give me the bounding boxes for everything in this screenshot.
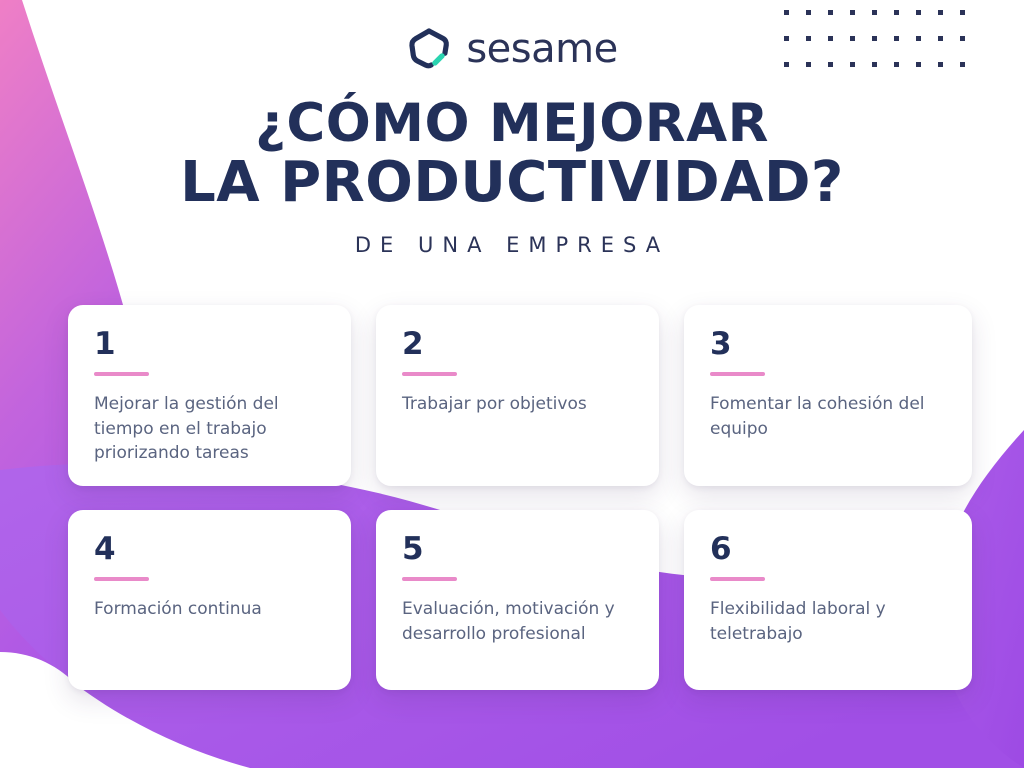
grid-dot — [960, 10, 965, 15]
card-text: Fomentar la cohesión del equipo — [710, 392, 946, 441]
card-number: 1 — [94, 329, 325, 360]
card-text: Trabajar por objetivos — [402, 392, 633, 417]
card-rule — [402, 577, 457, 581]
grid-dot — [894, 10, 899, 15]
grid-dot — [916, 10, 921, 15]
card-number: 5 — [402, 534, 633, 565]
card-rule — [402, 372, 457, 376]
grid-dot — [850, 10, 855, 15]
tip-card: 4 Formación continua — [68, 510, 351, 690]
brand-logo: sesame — [0, 26, 1024, 72]
card-rule — [710, 372, 765, 376]
title-line-2: LA PRODUCTIVIDAD? — [0, 153, 1024, 213]
page-title: ¿CÓMO MEJORAR LA PRODUCTIVIDAD? — [0, 96, 1024, 213]
card-number: 3 — [710, 329, 946, 360]
grid-dot — [872, 10, 877, 15]
card-number: 2 — [402, 329, 633, 360]
card-number: 6 — [710, 534, 946, 565]
card-rule — [94, 372, 149, 376]
card-text: Flexibilidad laboral y teletrabajo — [710, 597, 946, 646]
brand-name: sesame — [466, 29, 617, 69]
tip-card: 1 Mejorar la gestión del tiempo en el tr… — [68, 305, 351, 486]
grid-dot — [806, 10, 811, 15]
tip-card: 6 Flexibilidad laboral y teletrabajo — [684, 510, 972, 690]
card-rule — [94, 577, 149, 581]
card-rule — [710, 577, 765, 581]
card-text: Mejorar la gestión del tiempo en el trab… — [94, 392, 325, 466]
tips-card-grid: 1 Mejorar la gestión del tiempo en el tr… — [68, 305, 988, 690]
sesame-hexagon-logo-icon — [406, 26, 452, 72]
tip-card: 5 Evaluación, motivación y desarrollo pr… — [376, 510, 659, 690]
tip-card: 2 Trabajar por objetivos — [376, 305, 659, 486]
title-line-1: ¿CÓMO MEJORAR — [0, 96, 1024, 153]
card-text: Formación continua — [94, 597, 325, 622]
card-text: Evaluación, motivación y desarrollo prof… — [402, 597, 633, 646]
grid-dot — [828, 10, 833, 15]
grid-dot — [784, 10, 789, 15]
card-number: 4 — [94, 534, 325, 565]
tip-card: 3 Fomentar la cohesión del equipo — [684, 305, 972, 486]
page-subtitle: DE UNA EMPRESA — [0, 233, 1024, 257]
grid-dot — [938, 10, 943, 15]
infographic-poster: sesame ¿CÓMO MEJORAR LA PRODUCTIVIDAD? D… — [0, 0, 1024, 768]
